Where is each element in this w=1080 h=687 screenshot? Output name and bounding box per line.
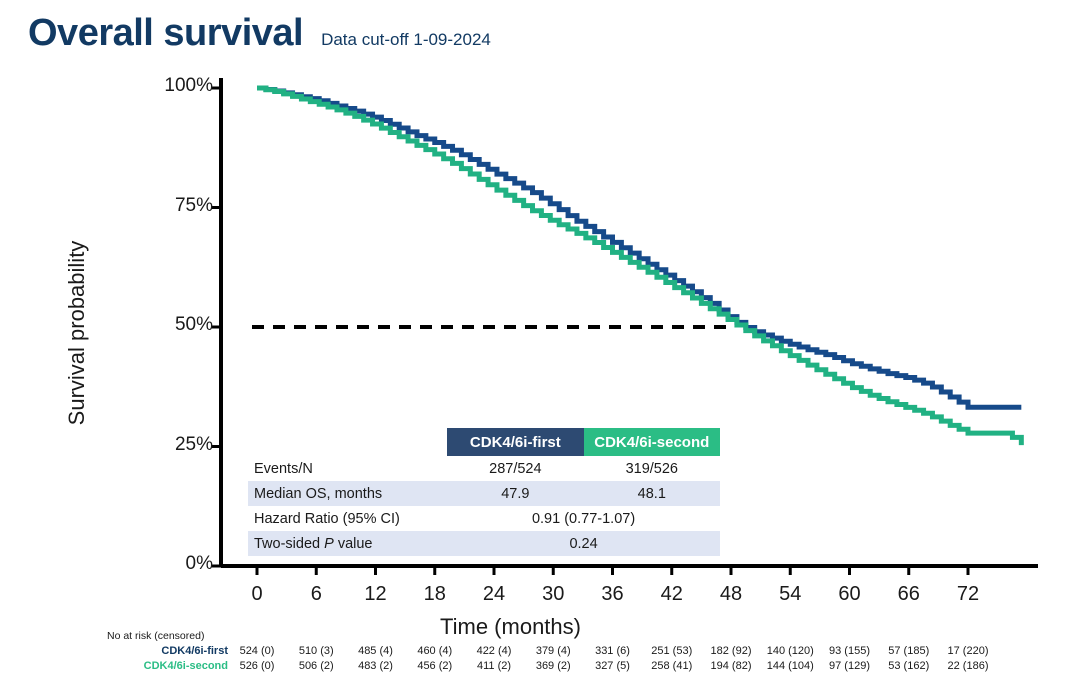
- stats-value-hazard-ratio: 0.91 (0.77-1.07): [447, 506, 720, 531]
- table-row: Hazard Ratio (95% CI) 0.91 (0.77-1.07): [248, 506, 720, 531]
- risk-value-second-m30: 369 (2): [536, 660, 571, 672]
- x-tick-label: 42: [661, 583, 683, 606]
- risk-value-second-m54: 144 (104): [767, 660, 814, 672]
- stats-table-header-row: CDK4/6i-first CDK4/6i-second: [248, 428, 720, 456]
- table-row: Two-sided P value 0.24: [248, 531, 720, 556]
- number-at-risk-table: No at risk (censored) CDK4/6i-first CDK4…: [0, 630, 1080, 687]
- x-tick-label: 54: [779, 583, 801, 606]
- risk-value-second-m66: 53 (162): [888, 660, 929, 672]
- stats-value-events-first: 287/524: [447, 456, 583, 481]
- stats-value-events-second: 319/526: [584, 456, 720, 481]
- survival-curve-cdk4-6i-second: [257, 88, 1021, 445]
- risk-row-label-cdk46i-second: CDK4/6i-second: [144, 660, 228, 672]
- stats-table-body: Events/N 287/524 319/526 Median OS, mont…: [248, 456, 720, 556]
- legend-label-cdk46i-first: CDK4/6i-first: [447, 428, 583, 456]
- table-row: Events/N 287/524 319/526: [248, 456, 720, 481]
- y-tick-label: 50%: [175, 314, 213, 336]
- chart-plot-area: 0%25%50%75%100% 061218243036424854606672…: [0, 0, 1080, 687]
- risk-value-first-m48: 182 (92): [711, 645, 752, 657]
- stats-row-label-hazard-ratio: Hazard Ratio (95% CI): [248, 506, 447, 531]
- stats-header-blank: [248, 428, 447, 456]
- risk-value-second-m60: 97 (129): [829, 660, 870, 672]
- risk-value-first-m54: 140 (120): [767, 645, 814, 657]
- x-tick-label: 60: [838, 583, 860, 606]
- p-value-label-pre: Two-sided: [254, 536, 324, 552]
- risk-value-second-m42: 258 (41): [651, 660, 692, 672]
- x-tick-label: 6: [311, 583, 322, 606]
- risk-value-second-m6: 506 (2): [299, 660, 334, 672]
- risk-value-first-m30: 379 (4): [536, 645, 571, 657]
- risk-value-second-m18: 456 (2): [417, 660, 452, 672]
- x-tick-label: 18: [424, 583, 446, 606]
- y-axis-title: Survival probability: [64, 168, 90, 498]
- y-tick-label: 0%: [186, 553, 213, 575]
- risk-value-first-m66: 57 (185): [888, 645, 929, 657]
- risk-value-first-m36: 331 (6): [595, 645, 630, 657]
- y-tick-label: 100%: [164, 75, 213, 97]
- p-value-label-post: value: [334, 536, 373, 552]
- risk-value-second-m72: 22 (186): [948, 660, 989, 672]
- x-tick-label: 72: [957, 583, 979, 606]
- x-tick-label: 36: [601, 583, 623, 606]
- risk-value-first-m12: 485 (4): [358, 645, 393, 657]
- stats-value-median-os-second: 48.1: [584, 481, 720, 506]
- risk-row-label-cdk46i-first: CDK4/6i-first: [161, 645, 228, 657]
- stats-row-label-events: Events/N: [248, 456, 447, 481]
- stats-row-label-p-value: Two-sided P value: [248, 531, 447, 556]
- x-tick-label: 30: [542, 583, 564, 606]
- x-tick-label: 0: [251, 583, 262, 606]
- risk-value-first-m42: 251 (53): [651, 645, 692, 657]
- risk-value-second-m0: 526 (0): [240, 660, 275, 672]
- risk-value-second-m12: 483 (2): [358, 660, 393, 672]
- table-row: Median OS, months 47.9 48.1: [248, 481, 720, 506]
- survival-curve-cdk4-6i-first: [257, 88, 1021, 407]
- risk-table-caption: No at risk (censored): [107, 630, 204, 642]
- risk-value-second-m36: 327 (5): [595, 660, 630, 672]
- risk-value-first-m6: 510 (3): [299, 645, 334, 657]
- risk-value-first-m24: 422 (4): [477, 645, 512, 657]
- x-tick-label: 12: [364, 583, 386, 606]
- statistics-table: CDK4/6i-first CDK4/6i-second Events/N 28…: [248, 428, 720, 556]
- risk-value-first-m0: 524 (0): [240, 645, 275, 657]
- risk-value-first-m18: 460 (4): [417, 645, 452, 657]
- stats-row-label-median-os: Median OS, months: [248, 481, 447, 506]
- risk-value-first-m60: 93 (155): [829, 645, 870, 657]
- risk-value-second-m48: 194 (82): [711, 660, 752, 672]
- legend-label-cdk46i-second: CDK4/6i-second: [584, 428, 720, 456]
- x-tick-label: 66: [898, 583, 920, 606]
- x-tick-label: 24: [483, 583, 505, 606]
- survival-series-group: [257, 88, 1021, 445]
- x-axis-ticks: 061218243036424854606672: [0, 583, 1080, 613]
- p-value-label-italic: P: [324, 536, 334, 552]
- stats-value-median-os-first: 47.9: [447, 481, 583, 506]
- y-tick-label: 75%: [175, 195, 213, 217]
- x-tick-label: 48: [720, 583, 742, 606]
- y-tick-label: 25%: [175, 434, 213, 456]
- risk-value-first-m72: 17 (220): [948, 645, 989, 657]
- risk-value-second-m24: 411 (2): [477, 660, 511, 672]
- stats-value-p-value: 0.24: [447, 531, 720, 556]
